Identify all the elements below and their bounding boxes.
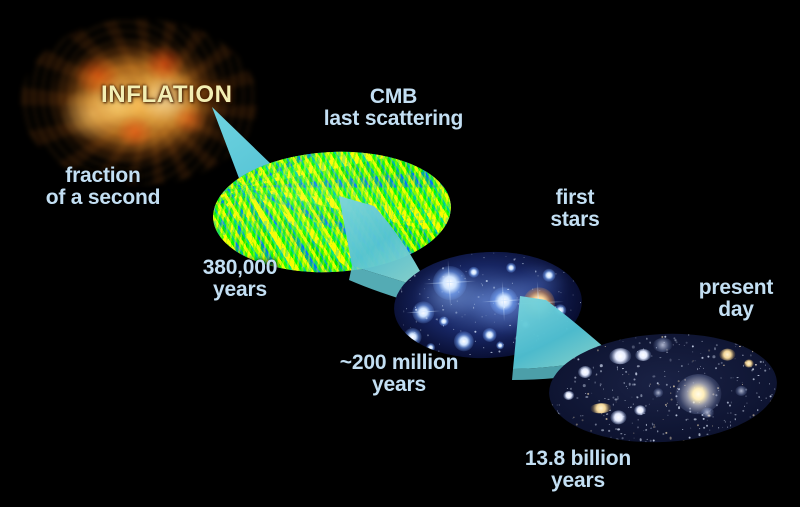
label-380000-years: 380,000 years <box>176 257 304 302</box>
label-first-stars: first stars <box>521 187 629 232</box>
cosmic-timeline-figure: INFLATION fraction of a second CMB last … <box>0 0 800 507</box>
label-cmb-last-scattering: CMB last scattering <box>306 86 481 131</box>
label-fraction-of-a-second: fraction of a second <box>33 165 173 210</box>
label-present-day: present day <box>677 277 795 322</box>
label-200-million-years: ~200 million years <box>296 352 502 397</box>
label-138-billion-years: 13.8 billion years <box>486 448 670 493</box>
label-inflation: INFLATION <box>101 82 233 107</box>
galaxies-ellipse-icon <box>546 328 779 448</box>
